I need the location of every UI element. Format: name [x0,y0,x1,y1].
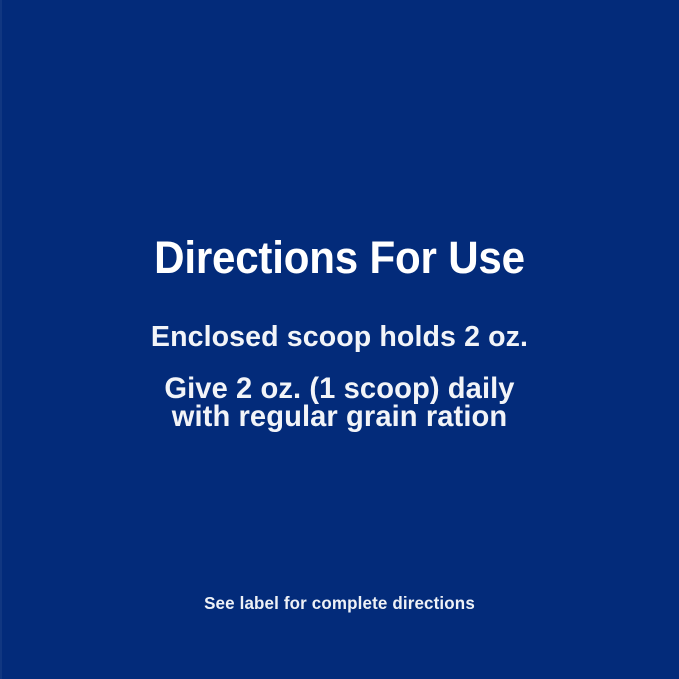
directions-content: Directions For Use Enclosed scoop holds … [0,0,679,679]
scoop-size-note: Enclosed scoop holds 2 oz. [5,320,674,354]
dosage-line-1: Give 2 oz. (1 scoop) daily [10,375,669,403]
directions-panel: Directions For Use Enclosed scoop holds … [0,0,679,679]
dosage-line-2: with regular grain ration [10,403,669,431]
dosage-instructions: Give 2 oz. (1 scoop) daily with regular … [10,375,669,431]
label-reference-note: See label for complete directions [10,592,669,614]
page-title: Directions For Use [22,233,657,283]
